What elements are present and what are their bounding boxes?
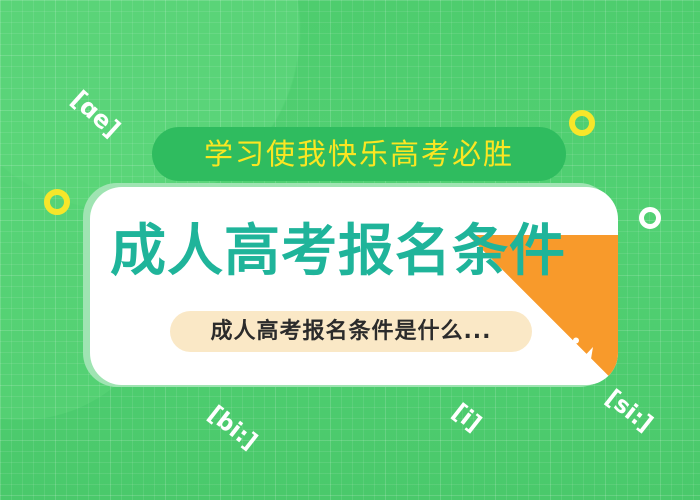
ring-yellow-top-right bbox=[569, 110, 595, 136]
crown-icon bbox=[556, 337, 596, 369]
subtitle-pill: 成人高考报名条件是什么... bbox=[170, 311, 532, 352]
top-banner-pill: 学习使我快乐高考必胜 bbox=[152, 127, 566, 181]
page-title: 成人高考报名条件 bbox=[110, 224, 600, 280]
top-banner-text: 学习使我快乐高考必胜 bbox=[204, 140, 514, 169]
subtitle-text: 成人高考报名条件是什么... bbox=[210, 321, 491, 343]
poster-canvas: [ɑe] [bi:] [i] [si:] 学习使我快乐高考必胜 成人高考报名条件… bbox=[0, 0, 700, 500]
ring-yellow-left bbox=[44, 189, 70, 215]
main-card bbox=[90, 187, 618, 385]
ring-white-right bbox=[639, 207, 661, 229]
